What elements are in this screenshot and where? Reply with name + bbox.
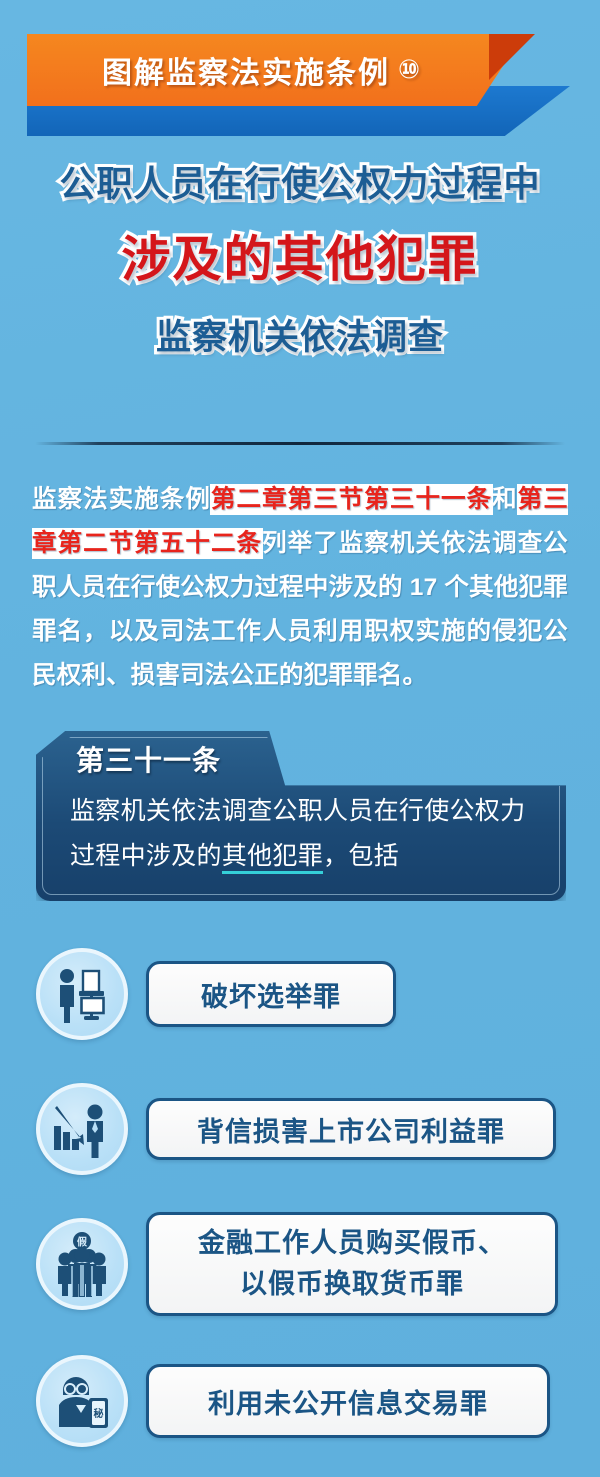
heading-line-3: 监察机关依法调查	[0, 307, 600, 369]
declining-chart-person-icon	[36, 1083, 128, 1175]
svg-text:假: 假	[77, 1236, 88, 1249]
crime-label-3-line-1: 金融工作人员购买假币、	[198, 1223, 506, 1264]
banner-title-group: 图解监察法实施条例 ⑩	[27, 34, 497, 106]
list-item[interactable]: 破坏选举罪	[36, 948, 576, 1040]
article-card-tab-label: 第三十一条	[76, 739, 221, 779]
intro-highlight-article-31: 第二章第三节第三十一条	[211, 485, 492, 514]
heading-line-2-emphasis: 涉及的其他犯罪	[0, 213, 600, 307]
page-title: 公职人员在行使公权力过程中 涉及的其他犯罪 监察机关依法调查	[0, 155, 600, 369]
person-secret-document-icon: 秘	[36, 1355, 128, 1447]
list-item[interactable]: 背信损害上市公司利益罪	[36, 1083, 576, 1175]
section-divider	[35, 442, 565, 445]
crime-label-4[interactable]: 利用未公开信息交易罪	[146, 1364, 550, 1438]
list-item[interactable]: 秘 利用未公开信息交易罪	[36, 1355, 576, 1447]
intro-segment-1: 监察法实施条例	[32, 486, 211, 513]
ballot-podium-person-icon	[36, 948, 128, 1040]
article-31-card: 第三十一条 监察机关依法调查公职人员在行使公权力过程中涉及的其他犯罪，包括	[36, 731, 566, 901]
crime-label-3-line-2: 以假币换取货币罪	[198, 1264, 506, 1305]
article-card-body: 监察机关依法调查公职人员在行使公权力过程中涉及的其他犯罪，包括	[70, 789, 540, 879]
intro-segment-2: 和	[492, 486, 518, 513]
crime-label-1[interactable]: 破坏选举罪	[146, 961, 396, 1027]
banner-title-text: 图解监察法实施条例	[102, 48, 390, 92]
heading-line-1: 公职人员在行使公权力过程中	[0, 155, 600, 213]
article-body-underlined-term: 其他犯罪	[222, 842, 323, 874]
crime-label-2[interactable]: 背信损害上市公司利益罪	[146, 1098, 556, 1160]
header-banner: 图解监察法实施条例 ⑩	[0, 28, 600, 138]
svg-text:秘: 秘	[94, 1407, 104, 1420]
crime-label-3[interactable]: 金融工作人员购买假币、 以假币换取货币罪	[146, 1212, 558, 1316]
group-fake-coin-icon: 假	[36, 1218, 128, 1310]
list-item[interactable]: 假 金融工作人员购买假币、 以假币换取货币罪	[36, 1212, 576, 1316]
article-body-segment-2: ，包括	[323, 842, 399, 870]
banner-episode-number: ⑩	[398, 56, 422, 84]
intro-paragraph: 监察法实施条例第二章第三节第三十一条和第三章第二节第五十二条列举了监察机关依法调…	[32, 478, 568, 698]
